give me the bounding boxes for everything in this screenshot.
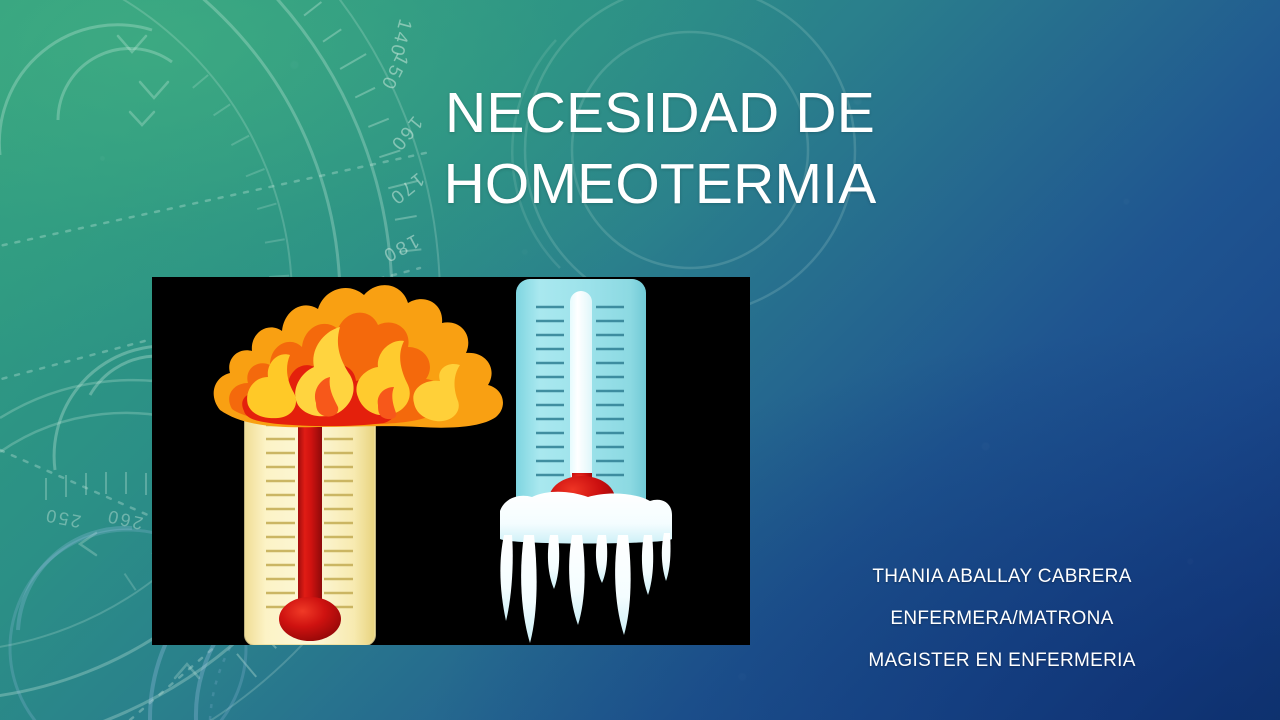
- author-credits: THANIA ABALLAY CABRERA ENFERMERA/MATRONA…: [822, 556, 1182, 682]
- cold-thermometer-column: [570, 291, 592, 483]
- author-degree: MAGISTER EN ENFERMERIA: [822, 640, 1182, 682]
- author-role: ENFERMERA/MATRONA: [822, 598, 1182, 640]
- author-name: THANIA ABALLAY CABRERA: [822, 556, 1182, 598]
- svg-text:250: 250: [42, 505, 83, 532]
- slide-title: NECESIDAD DE HOMEOTERMIA: [380, 78, 940, 220]
- hot-thermometer-mercury: [298, 407, 322, 619]
- title-line-2: HOMEOTERMIA: [380, 149, 940, 220]
- svg-text:180: 180: [378, 230, 422, 267]
- compass-degree-labels-lower: 260 250: [42, 505, 145, 534]
- title-line-1: NECESIDAD DE: [380, 78, 940, 149]
- hot-thermometer-bulb: [279, 597, 341, 641]
- thermometers-picture: [152, 277, 750, 645]
- presentation-slide: 140 150 160 170 180 260 250 NECESIDAD DE…: [0, 0, 1280, 720]
